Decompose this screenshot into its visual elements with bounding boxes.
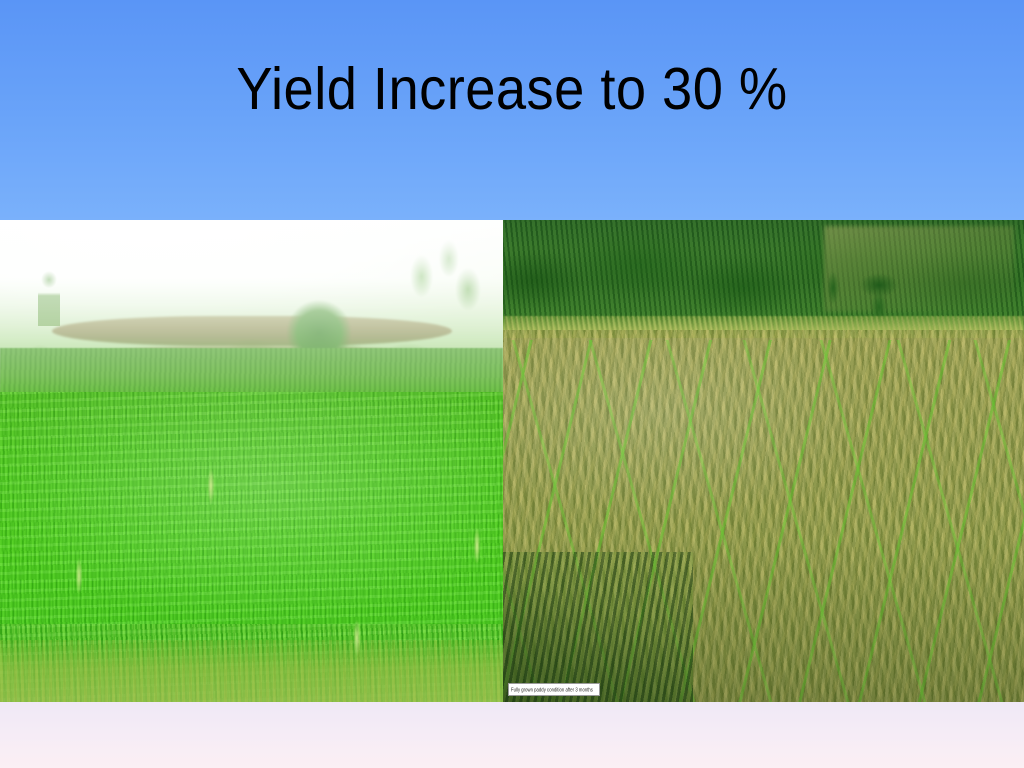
weed-stalk [472,520,482,572]
photo-young-green-paddy [0,220,503,702]
foreground-mature-strip [0,640,503,702]
photo-caption-text: Fully grown paddy condition after 3 mont… [509,686,593,694]
page-title: Yield Increase to 30 % [41,56,983,122]
title-band: Yield Increase to 30 % [0,0,1024,221]
photo-ripe-golden-paddy: Fully grown paddy condition after 3 mont… [503,220,1024,702]
weed-stalk [74,550,84,602]
slender-tree [822,268,844,318]
foreground-dark-clump [503,552,693,702]
photo-comparison-row: Fully grown paddy condition after 3 mont… [0,220,1024,702]
footer-band [0,702,1024,768]
weed-stalk [206,460,216,512]
weed-stalk [352,612,362,664]
photo-caption-box: Fully grown paddy condition after 3 mont… [508,683,600,696]
slide: Yield Increase to 30 % [0,0,1024,768]
atmospheric-haze [0,220,503,410]
